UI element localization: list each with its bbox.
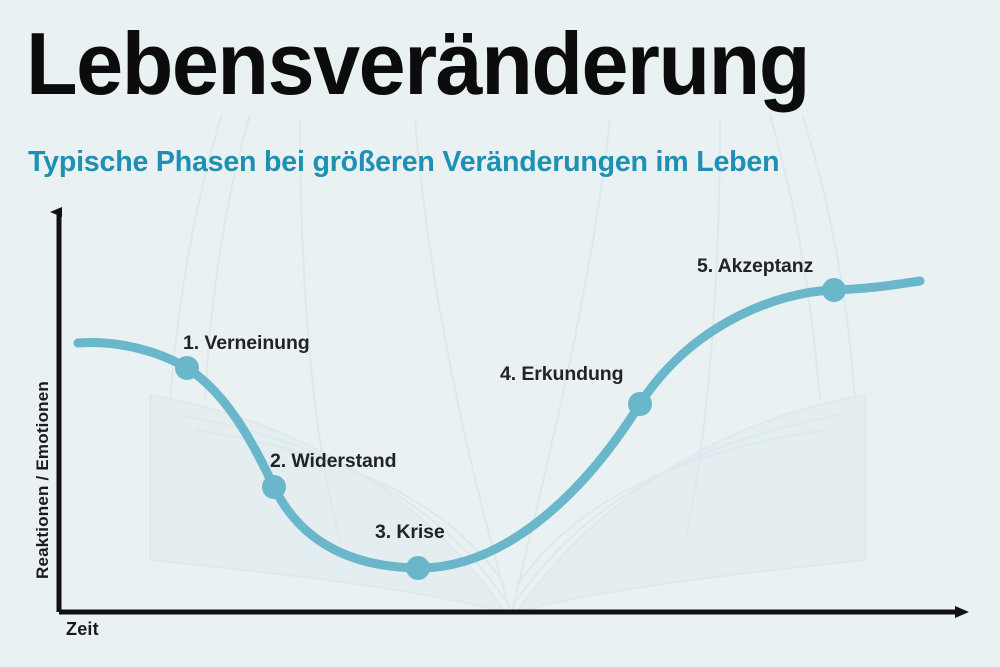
phase-label-widerstand: 2. Widerstand (270, 450, 396, 473)
phase-label-krise: 3. Krise (375, 521, 445, 544)
phase-label-verneinung: 1. Verneinung (183, 332, 310, 355)
y-axis-label: Reaktionen / Emotionen (33, 360, 53, 600)
phase-label-erkundung: 4. Erkundung (500, 363, 623, 386)
change-curve-chart (0, 0, 1000, 667)
change-curve-path (78, 281, 920, 568)
phase-dot-widerstand[interactable] (262, 475, 286, 499)
infographic-canvas: Lebensveränderung Typische Phasen bei gr… (0, 0, 1000, 667)
phase-markers (175, 278, 846, 580)
phase-label-akzeptanz: 5. Akzeptanz (697, 255, 813, 278)
phase-dot-verneinung[interactable] (175, 356, 199, 380)
phase-dot-erkundung[interactable] (628, 392, 652, 416)
phase-dot-krise[interactable] (406, 556, 430, 580)
x-axis-label: Zeit (66, 619, 99, 640)
chart-axes (59, 212, 957, 612)
phase-dot-akzeptanz[interactable] (822, 278, 846, 302)
